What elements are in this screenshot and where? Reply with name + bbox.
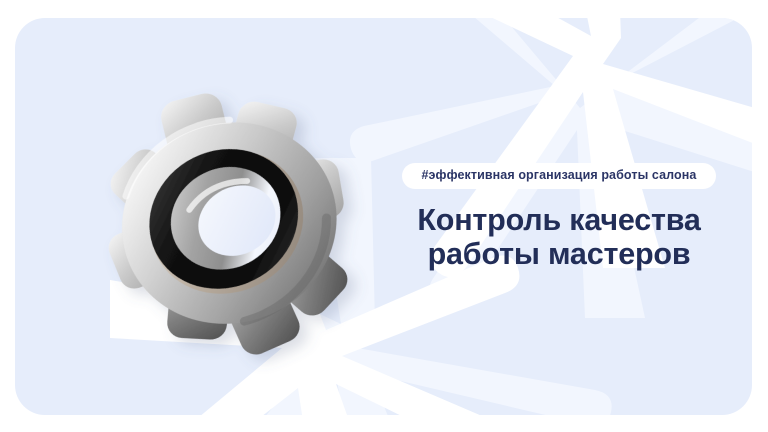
page-title: Контроль качества работы мастеров	[387, 203, 731, 272]
banner-root: #эффективная организация работы салона К…	[0, 0, 768, 432]
gear-illustration	[93, 70, 373, 370]
gear-icon	[93, 70, 373, 370]
banner-card: #эффективная организация работы салона К…	[15, 18, 752, 415]
text-block: #эффективная организация работы салона К…	[387, 163, 731, 271]
hashtag-pill: #эффективная организация работы салона	[402, 163, 715, 189]
